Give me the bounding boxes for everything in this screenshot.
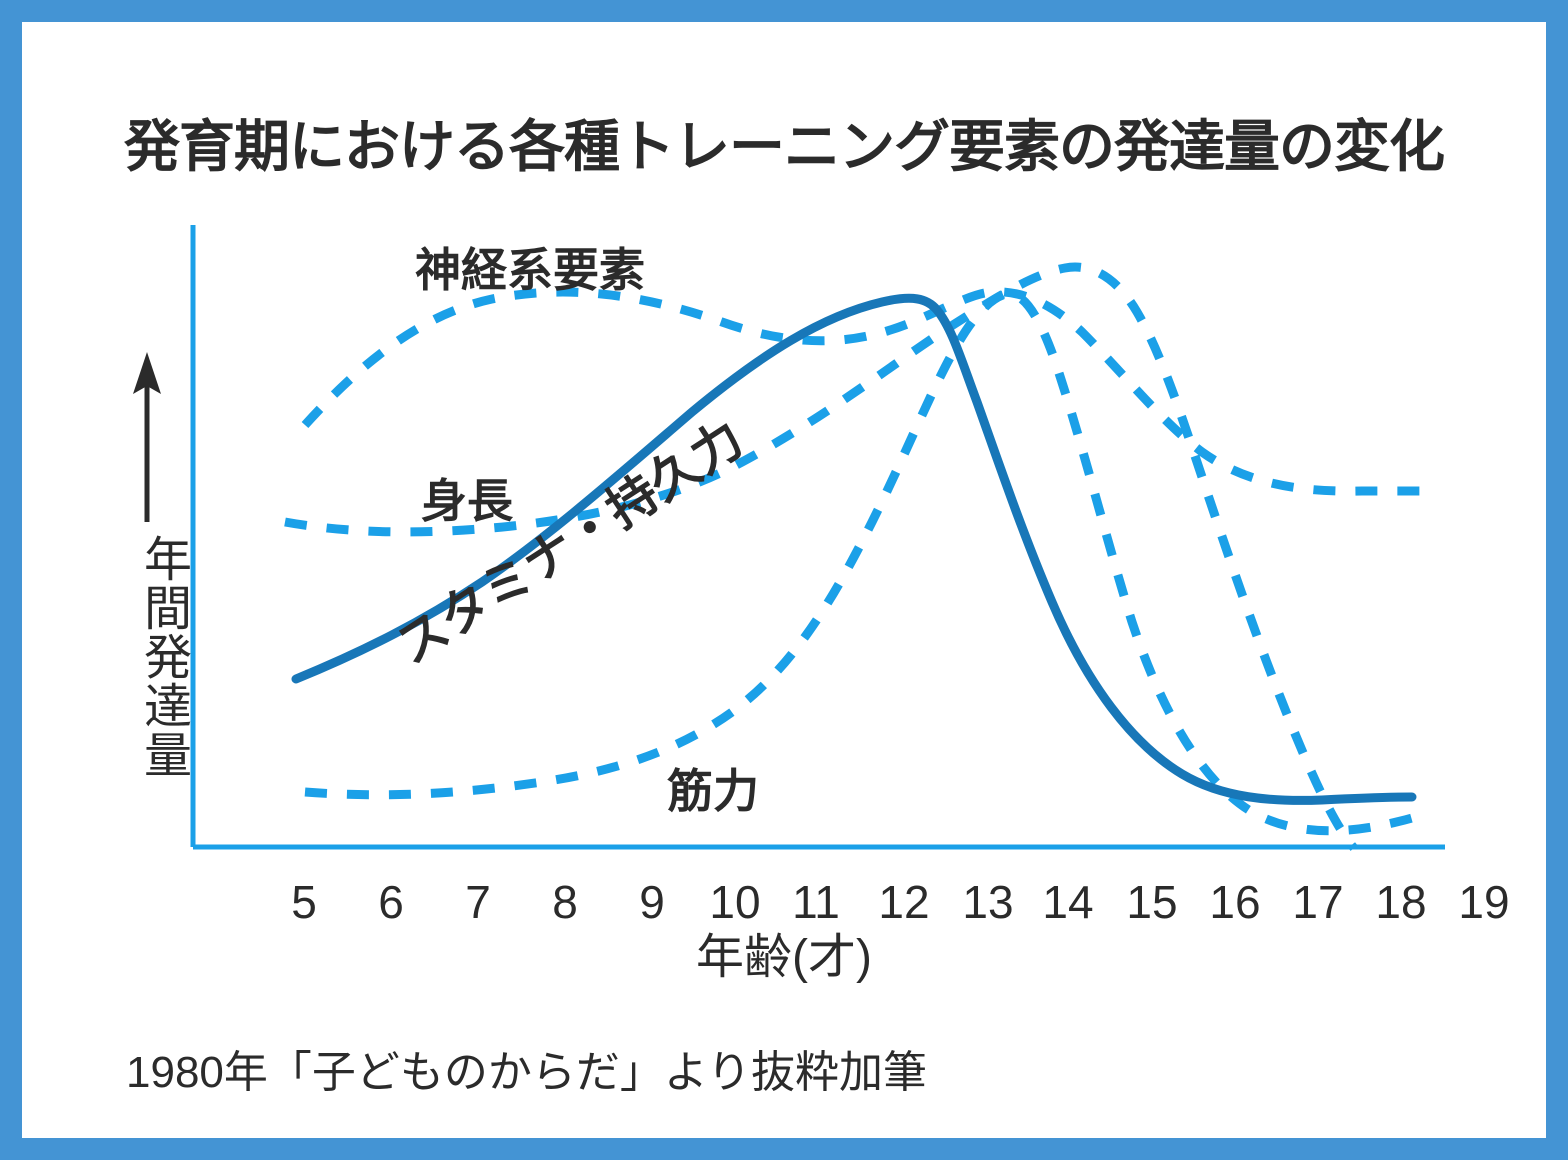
x-axis-title: 年齢(才)	[22, 917, 1546, 987]
series-label-height: 身長	[421, 465, 513, 531]
curve-height	[285, 267, 1354, 848]
up-arrow-icon	[133, 352, 161, 522]
series-label-nerve: 神経系要素	[415, 234, 645, 300]
slide-page: 発育期における各種トレーニング要素の発達量の変化 5 6 7 8 9	[0, 0, 1568, 1160]
series-label-strength: 筋力	[667, 755, 759, 821]
y-axis-title: 年間発達量	[126, 534, 186, 779]
source-note: 1980年「子どものからだ」より抜粋加筆	[126, 1036, 927, 1100]
chart-canvas: 発育期における各種トレーニング要素の発達量の変化 5 6 7 8 9	[22, 22, 1546, 1138]
